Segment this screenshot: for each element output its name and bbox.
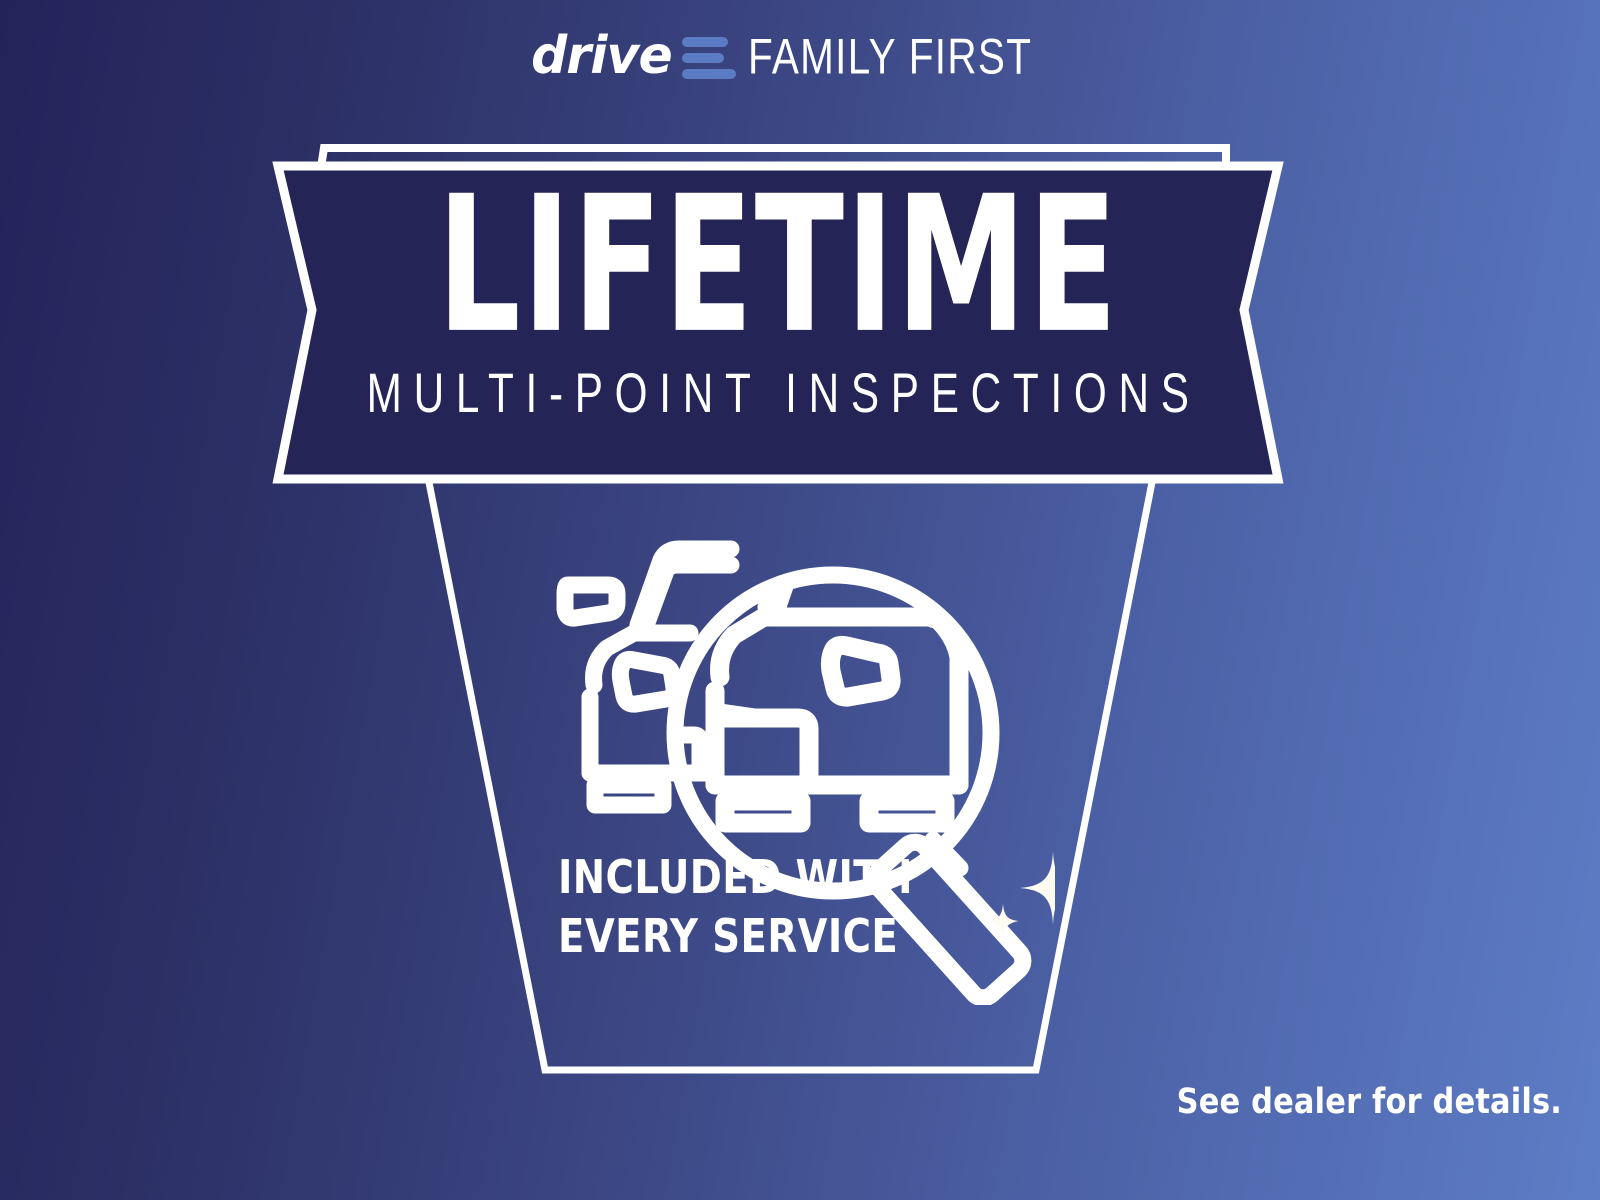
brand-lockup: drive FAMILY FIRST xyxy=(0,30,1600,82)
included-line-2: EVERY SERVICE xyxy=(558,907,913,966)
ribbon-banner: LIFETIME MULTI-POINT INSPECTIONS xyxy=(272,160,1284,485)
stacked-bars-icon xyxy=(682,33,736,79)
disclaimer-text: See dealer for details. xyxy=(1177,1082,1562,1122)
included-line-1: INCLUDED WITH xyxy=(558,848,913,907)
ribbon-subline: MULTI-POINT INSPECTIONS xyxy=(355,364,1201,419)
brand-tagline: FAMILY FIRST xyxy=(748,31,1032,81)
included-copy: INCLUDED WITH EVERY SERVICE xyxy=(558,848,913,966)
sparkle-group xyxy=(987,815,1055,939)
ribbon-headline: LIFETIME xyxy=(437,179,1119,352)
brand-wordmark: drive xyxy=(531,30,672,82)
sparkle-large xyxy=(1020,851,1055,925)
